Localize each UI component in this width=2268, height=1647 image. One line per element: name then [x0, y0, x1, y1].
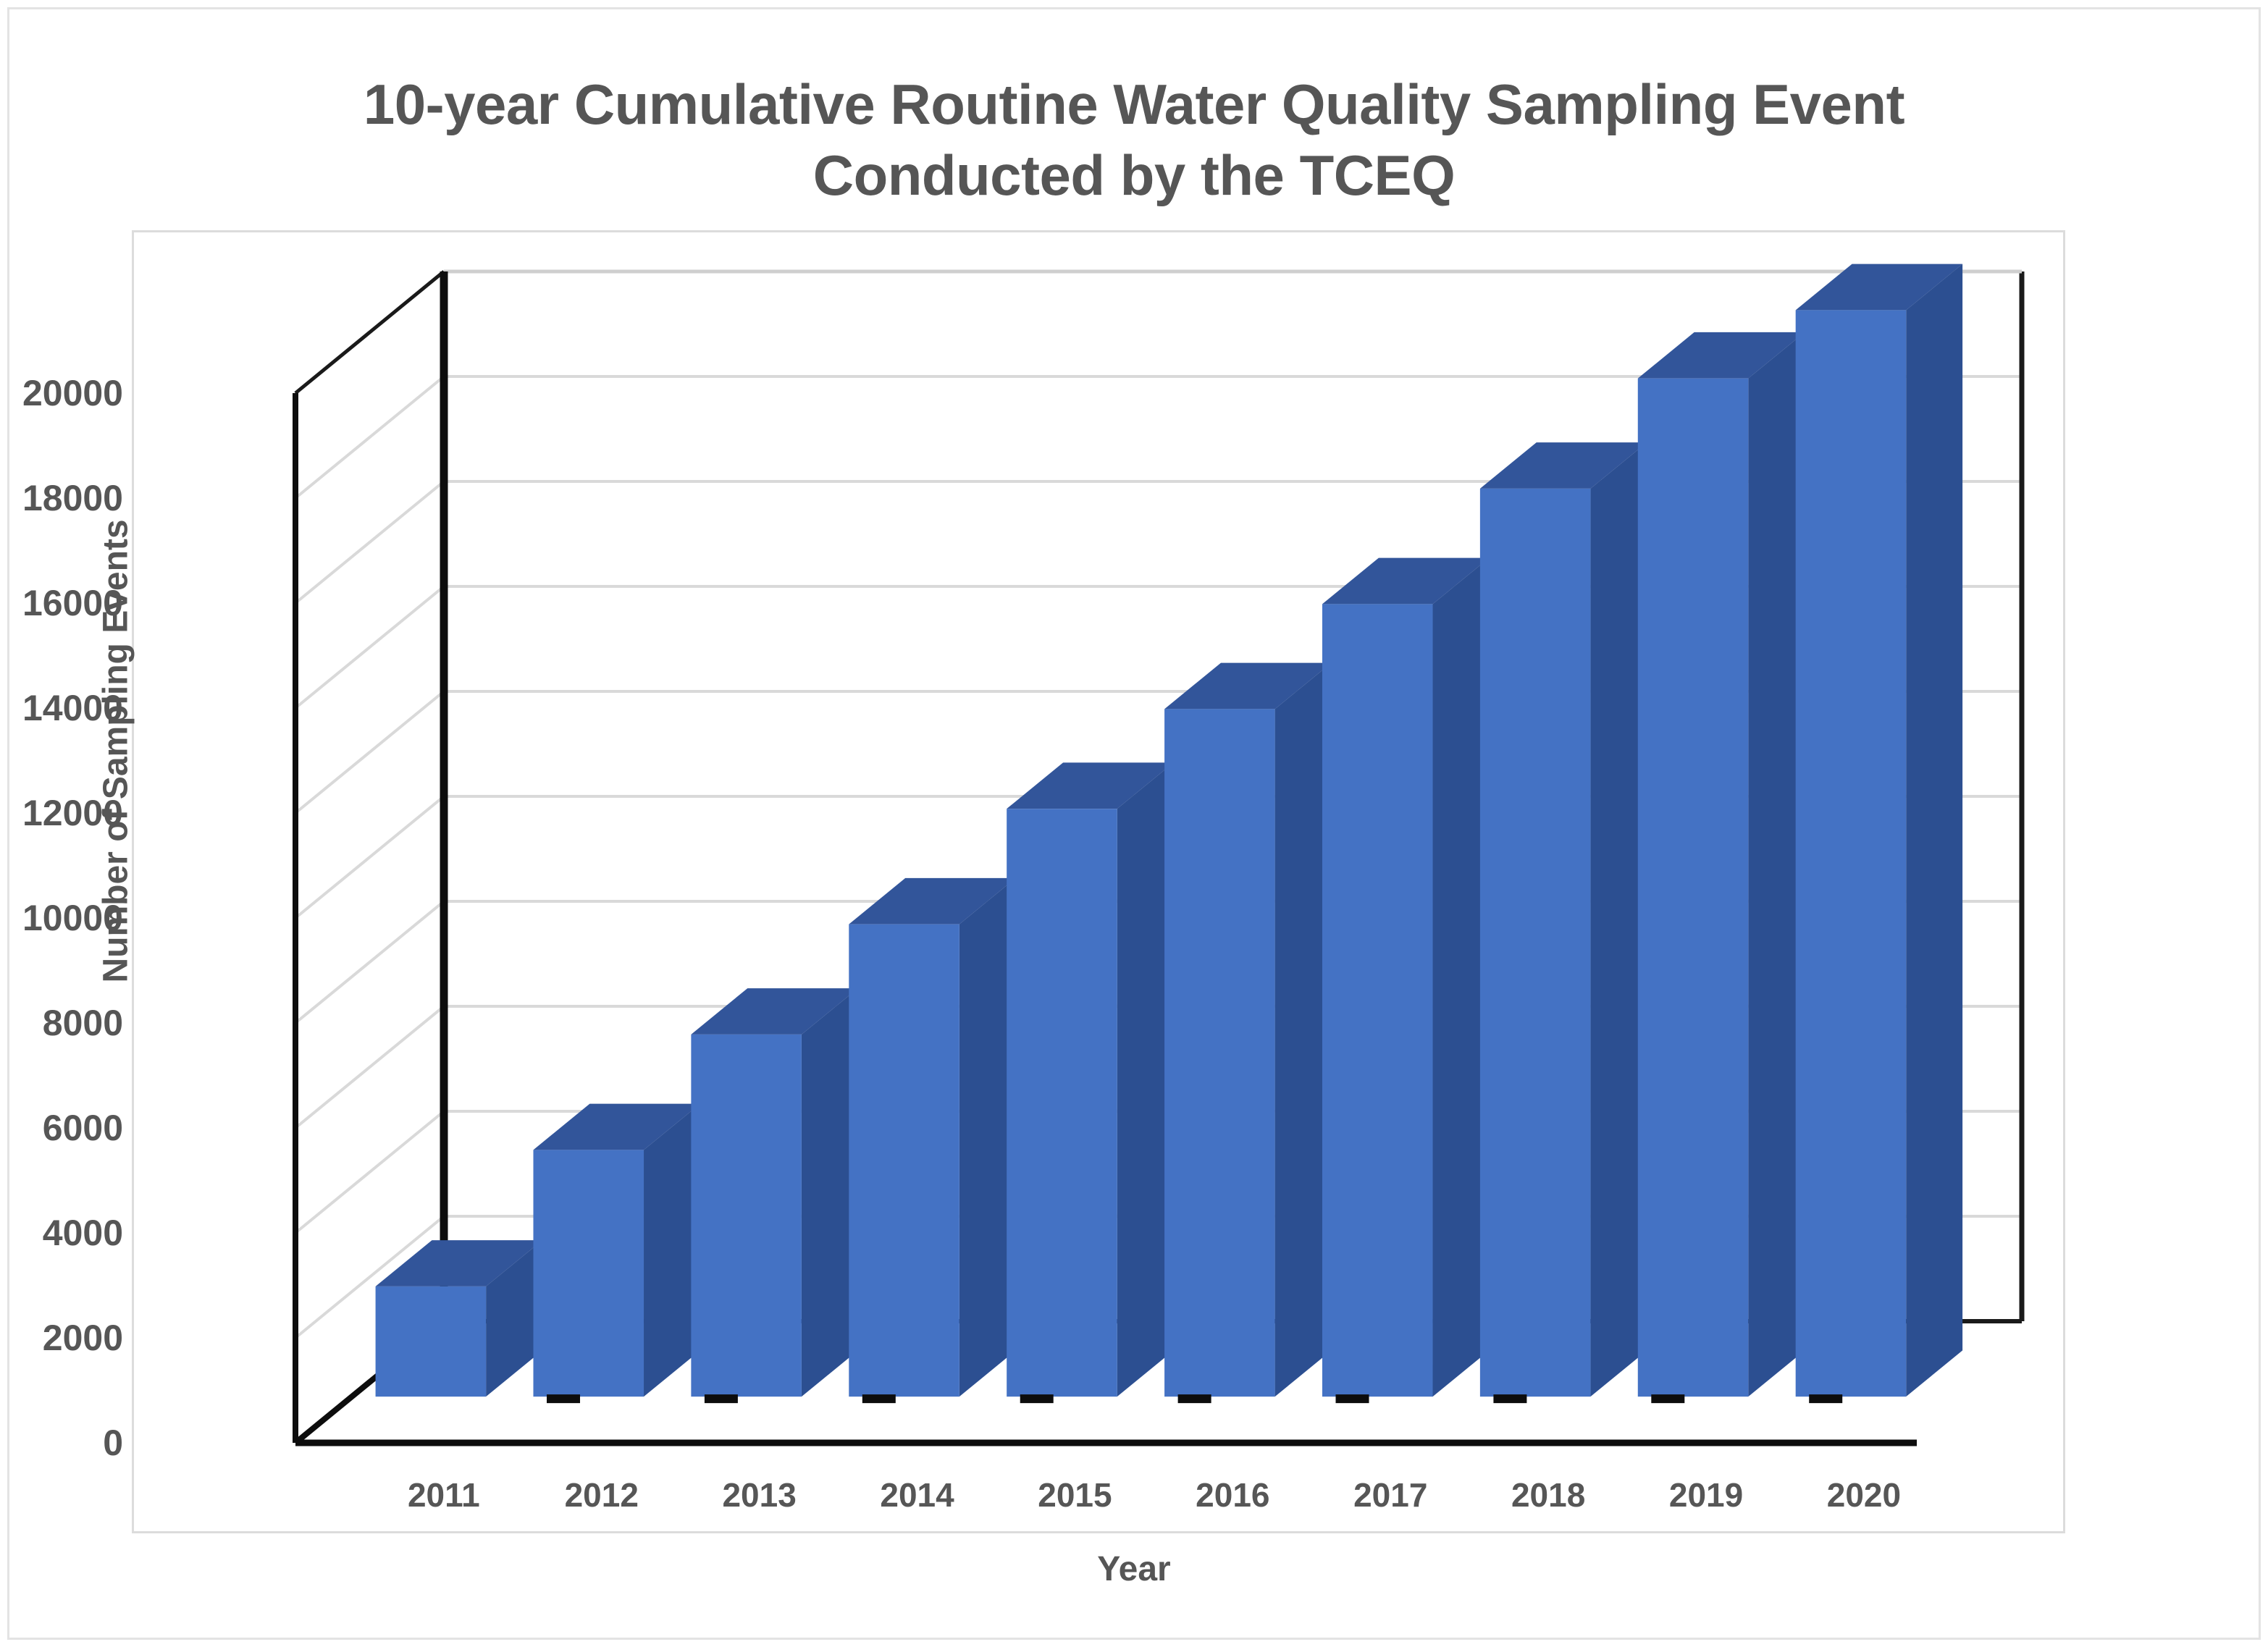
- y-tick-label-0: 0: [0, 1422, 123, 1464]
- x-tick-label-2019: 2019: [1669, 1475, 1743, 1515]
- chart-page: 10-year Cumulative Routine Water Quality…: [0, 0, 2268, 1647]
- y-tick-label-2000: 2000: [0, 1317, 123, 1359]
- plot-area-frame: [132, 230, 2065, 1533]
- chart-title-line-1: 10-year Cumulative Routine Water Quality…: [0, 69, 2268, 140]
- y-tick-label-8000: 8000: [0, 1002, 123, 1044]
- y-tick-label-12000: 12000: [0, 792, 123, 834]
- chart-title: 10-year Cumulative Routine Water Quality…: [0, 69, 2268, 211]
- x-tick-label-2020: 2020: [1827, 1475, 1901, 1515]
- y-tick-label-4000: 4000: [0, 1212, 123, 1254]
- x-tick-label-2017: 2017: [1353, 1475, 1427, 1515]
- y-tick-label-6000: 6000: [0, 1107, 123, 1149]
- y-tick-label-18000: 18000: [0, 477, 123, 519]
- x-tick-label-2016: 2016: [1196, 1475, 1269, 1515]
- y-tick-label-16000: 16000: [0, 582, 123, 624]
- x-tick-label-2011: 2011: [408, 1475, 480, 1515]
- y-tick-label-14000: 14000: [0, 687, 123, 729]
- x-tick-label-2013: 2013: [722, 1475, 796, 1515]
- x-tick-label-2012: 2012: [565, 1475, 639, 1515]
- x-axis-title: Year: [0, 1549, 2268, 1589]
- x-tick-label-2015: 2015: [1038, 1475, 1112, 1515]
- x-tick-label-2018: 2018: [1511, 1475, 1585, 1515]
- y-tick-label-20000: 20000: [0, 372, 123, 414]
- chart-title-line-2: Conducted by the TCEQ: [0, 140, 2268, 211]
- y-tick-label-10000: 10000: [0, 897, 123, 939]
- x-tick-label-2014: 2014: [880, 1475, 954, 1515]
